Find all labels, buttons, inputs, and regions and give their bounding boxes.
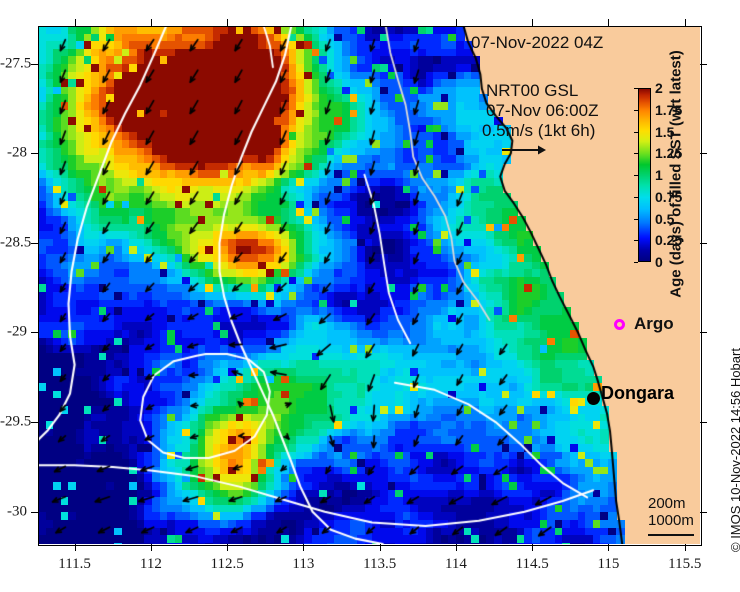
colorbar-tick xyxy=(634,153,638,154)
x-tick xyxy=(456,544,457,551)
y-tick-label: -30 xyxy=(0,503,27,520)
x-tick-top xyxy=(75,19,76,26)
contour-and-current-overlay xyxy=(38,26,700,544)
x-tick-top xyxy=(685,19,686,26)
x-tick-top xyxy=(456,19,457,26)
x-tick-top xyxy=(303,19,304,26)
x-tick-top xyxy=(151,19,152,26)
dongara-label: Dongara xyxy=(601,383,674,404)
x-tick-top xyxy=(532,19,533,26)
y-tick-right xyxy=(700,422,707,423)
x-tick xyxy=(532,544,533,551)
colorbar-tick-label: 0 xyxy=(655,254,663,270)
colorbar-tick xyxy=(634,262,638,263)
y-tick xyxy=(31,332,38,333)
y-tick-label: -29 xyxy=(0,324,27,341)
colorbar-gradient xyxy=(639,89,650,261)
x-tick-label: 112 xyxy=(140,556,162,573)
y-tick xyxy=(31,512,38,513)
x-tick xyxy=(380,544,381,551)
dongara-marker-icon xyxy=(587,392,600,405)
x-tick-label: 112.5 xyxy=(211,556,244,573)
y-tick-label: -28.5 xyxy=(0,234,27,251)
y-tick xyxy=(31,153,38,154)
date-stamp-annotation: 07-Nov-2022 04Z xyxy=(471,33,603,53)
x-tick-top xyxy=(227,19,228,26)
y-tick-right xyxy=(700,153,707,154)
colorbar-tick xyxy=(634,240,638,241)
map-plot-area[interactable]: 07-Nov-2022 04Z NRT00 GSL 07-Nov 06:00Z … xyxy=(38,26,700,544)
depth-legend-rule xyxy=(648,534,694,536)
x-tick-label: 114.5 xyxy=(516,556,549,573)
colorbar-tick xyxy=(634,175,638,176)
x-tick-label: 111.5 xyxy=(58,556,91,573)
x-tick-top xyxy=(608,19,609,26)
colorbar-tick xyxy=(634,219,638,220)
argo-marker-icon xyxy=(614,319,625,330)
y-tick-label: -29.5 xyxy=(0,414,27,431)
vector-scale-annotation: 0.5m/s (1kt 6h) xyxy=(482,121,595,141)
argo-legend-entry: Argo xyxy=(614,314,674,334)
vector-scale-arrow-icon xyxy=(502,144,546,158)
y-tick-label: -28 xyxy=(0,145,27,162)
x-tick xyxy=(608,544,609,551)
model-label-annotation: NRT00 GSL xyxy=(486,81,578,101)
figure-canvas: 07-Nov-2022 04Z NRT00 GSL 07-Nov 06:00Z … xyxy=(0,0,740,592)
colorbar-title: Age (days) of filled SST (wrt latest) xyxy=(668,50,685,298)
colorbar-tick xyxy=(634,132,638,133)
y-tick-right xyxy=(700,512,707,513)
depth-contour-legend: 200m 1000m xyxy=(648,495,694,529)
depth-shallow-label: 200m xyxy=(648,495,694,512)
y-tick xyxy=(31,64,38,65)
colorbar-tick-label: 2 xyxy=(655,80,663,96)
y-tick-right xyxy=(700,64,707,65)
colorbar-tick xyxy=(634,197,638,198)
x-tick-label: 114 xyxy=(445,556,467,573)
x-tick-label: 113 xyxy=(292,556,314,573)
model-time-annotation: 07-Nov 06:00Z xyxy=(486,101,598,121)
x-tick xyxy=(303,544,304,551)
argo-legend-label: Argo xyxy=(634,314,674,334)
x-tick-label: 115.5 xyxy=(668,556,701,573)
colorbar-tick xyxy=(634,110,638,111)
credit-text: © IMOS 10-Nov-2022 14:56 Hobart xyxy=(728,348,740,552)
x-tick xyxy=(151,544,152,551)
y-tick-label: -27.5 xyxy=(0,55,27,72)
y-tick xyxy=(31,243,38,244)
colorbar[interactable] xyxy=(638,88,651,262)
depth-deep-label: 1000m xyxy=(648,512,694,529)
colorbar-tick-label: 1 xyxy=(655,167,663,183)
y-tick xyxy=(31,422,38,423)
x-tick xyxy=(685,544,686,551)
x-tick-label: 115 xyxy=(597,556,619,573)
y-tick-right xyxy=(700,332,707,333)
colorbar-tick xyxy=(634,88,638,89)
x-tick-label: 113.5 xyxy=(363,556,396,573)
y-tick-right xyxy=(700,243,707,244)
x-tick-top xyxy=(380,19,381,26)
x-tick xyxy=(75,544,76,551)
x-tick xyxy=(227,544,228,551)
